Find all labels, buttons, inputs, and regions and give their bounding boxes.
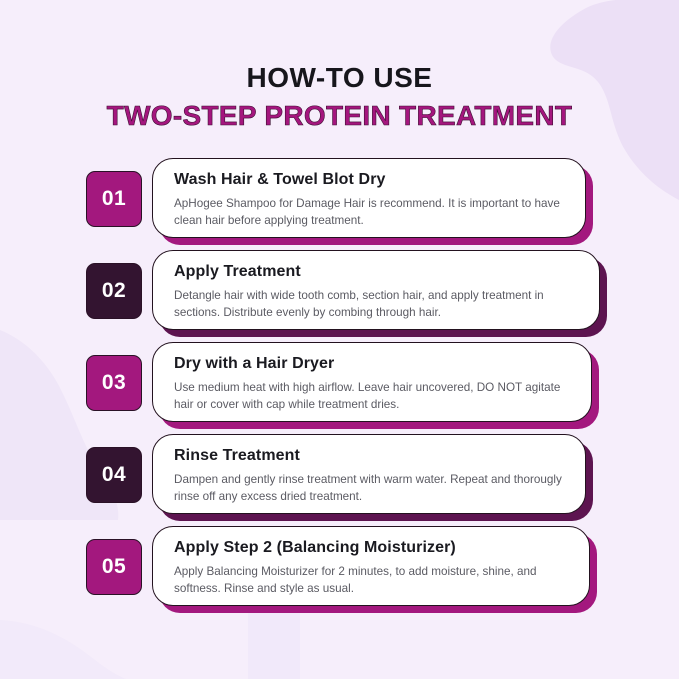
step-card-body: Rinse TreatmentDampen and gently rinse t… bbox=[152, 434, 586, 514]
step-row: 03Dry with a Hair DryerUse medium heat w… bbox=[0, 342, 679, 434]
step-title: Apply Treatment bbox=[174, 262, 581, 283]
step-number-badge: 01 bbox=[86, 171, 142, 227]
step-card-body: Apply TreatmentDetangle hair with wide t… bbox=[152, 250, 600, 330]
step-row: 05Apply Step 2 (Balancing Moisturizer)Ap… bbox=[0, 526, 679, 618]
step-title: Rinse Treatment bbox=[174, 446, 567, 467]
step-description: Detangle hair with wide tooth comb, sect… bbox=[174, 287, 581, 322]
step-number-badge: 05 bbox=[86, 539, 142, 595]
step-number-label: 01 bbox=[102, 187, 126, 211]
step-card[interactable]: Dry with a Hair DryerUse medium heat wit… bbox=[152, 342, 592, 422]
steps-list: 01Wash Hair & Towel Blot DryApHogee Sham… bbox=[0, 158, 679, 618]
step-description: ApHogee Shampoo for Damage Hair is recom… bbox=[174, 195, 567, 230]
step-description: Use medium heat with high airflow. Leave… bbox=[174, 379, 573, 414]
step-card-body: Apply Step 2 (Balancing Moisturizer)Appl… bbox=[152, 526, 590, 606]
step-number-badge: 02 bbox=[86, 263, 142, 319]
step-description: Dampen and gently rinse treatment with w… bbox=[174, 471, 567, 506]
step-row: 02Apply TreatmentDetangle hair with wide… bbox=[0, 250, 679, 342]
step-title: Wash Hair & Towel Blot Dry bbox=[174, 170, 567, 191]
step-number-label: 05 bbox=[102, 555, 126, 579]
page-subtitle: TWO-STEP PROTEIN TREATMENT bbox=[0, 100, 679, 132]
header: HOW-TO USE TWO-STEP PROTEIN TREATMENT bbox=[0, 62, 679, 132]
step-row: 01Wash Hair & Towel Blot DryApHogee Sham… bbox=[0, 158, 679, 250]
step-card[interactable]: Apply Step 2 (Balancing Moisturizer)Appl… bbox=[152, 526, 590, 606]
step-number-badge: 04 bbox=[86, 447, 142, 503]
step-number-label: 03 bbox=[102, 371, 126, 395]
page-title: HOW-TO USE bbox=[0, 62, 679, 94]
step-number-label: 04 bbox=[102, 463, 126, 487]
step-title: Dry with a Hair Dryer bbox=[174, 354, 573, 375]
step-card[interactable]: Rinse TreatmentDampen and gently rinse t… bbox=[152, 434, 586, 514]
step-card[interactable]: Wash Hair & Towel Blot DryApHogee Shampo… bbox=[152, 158, 586, 238]
step-number-badge: 03 bbox=[86, 355, 142, 411]
step-card-body: Wash Hair & Towel Blot DryApHogee Shampo… bbox=[152, 158, 586, 238]
step-title: Apply Step 2 (Balancing Moisturizer) bbox=[174, 538, 571, 559]
step-description: Apply Balancing Moisturizer for 2 minute… bbox=[174, 563, 571, 598]
step-number-label: 02 bbox=[102, 279, 126, 303]
step-row: 04Rinse TreatmentDampen and gently rinse… bbox=[0, 434, 679, 526]
step-card[interactable]: Apply TreatmentDetangle hair with wide t… bbox=[152, 250, 600, 330]
blob-bottom-left bbox=[0, 620, 126, 679]
step-card-body: Dry with a Hair DryerUse medium heat wit… bbox=[152, 342, 592, 422]
